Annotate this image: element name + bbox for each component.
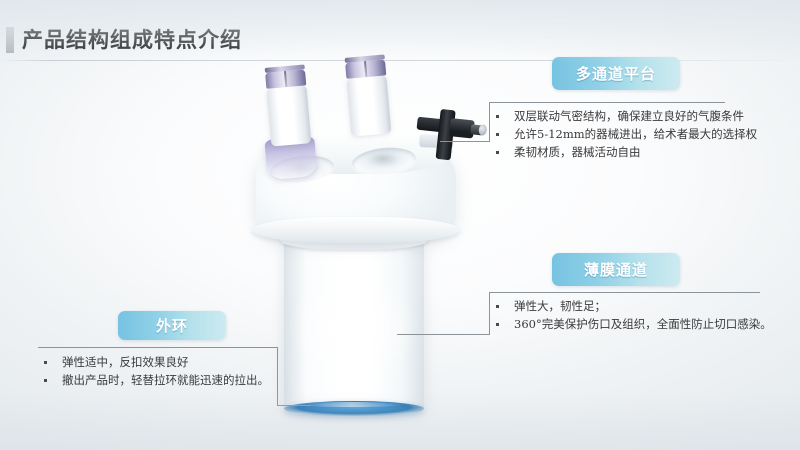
device-trocar-left-tube [266,85,311,146]
list-item: 柔韧材质，器械活动自由 [492,144,792,161]
callout-outer-ring-leader-line [277,405,311,406]
callout-bullets-membrane: 弹性大，韧性足； 360°完美保护伤口及组织，全面性防止切口感染。 [492,298,772,334]
callout-bullets-outer-ring: 弹性适中，反扣效果良好 撤出产品时，轻替拉环就能迅速的拉出。 [40,354,290,390]
list-item: 360°完美保护伤口及组织，全面性防止切口感染。 [492,316,772,333]
title-accent-bar [6,27,14,53]
device-trocar-right [345,54,392,136]
callout-outer-ring-top-rule [38,347,277,348]
list-item: 弹性大，韧性足； [492,298,772,315]
callout-multichannel-leader-line [440,141,490,142]
device-insufflation-valve [413,107,484,166]
callout-bullets-multichannel: 双层联动气密结构，确保建立良好的气腹条件 允许5-12mm的器械进出，给术者最大… [492,108,792,162]
callout-multichannel-left-rule [489,102,490,142]
callout-badge-multichannel[interactable]: 多通道平台 [552,57,680,90]
callout-membrane-left-rule [489,292,490,335]
page-title: 产品结构组成特点介绍 [22,26,242,53]
callout-badge-membrane[interactable]: 薄膜通道 [552,253,680,286]
list-item: 双层联动气密结构，确保建立良好的气腹条件 [492,108,792,125]
callout-membrane-leader-line [397,334,490,335]
slide-canvas: 产品结构组成特点介绍 [0,0,800,450]
device-outer-ring-highlight [298,402,406,407]
device-cap-collar [252,217,460,243]
callout-membrane-top-rule [489,292,760,293]
device-sleeve [284,238,424,414]
list-item: 允许5-12mm的器械进出，给术者最大的选择权 [492,126,792,143]
callout-multichannel-top-rule [489,102,725,103]
list-item: 弹性适中，反扣效果良好 [40,354,290,371]
device-port-well-right-inner [366,153,400,167]
list-item: 撤出产品时，轻替拉环就能迅速的拉出。 [40,372,290,389]
callout-badge-outer-ring[interactable]: 外环 [118,311,226,340]
device-trocar-right-tube [346,75,391,136]
valve-tip [478,124,487,136]
title-divider [0,60,800,61]
device-trocar-left [265,64,312,146]
